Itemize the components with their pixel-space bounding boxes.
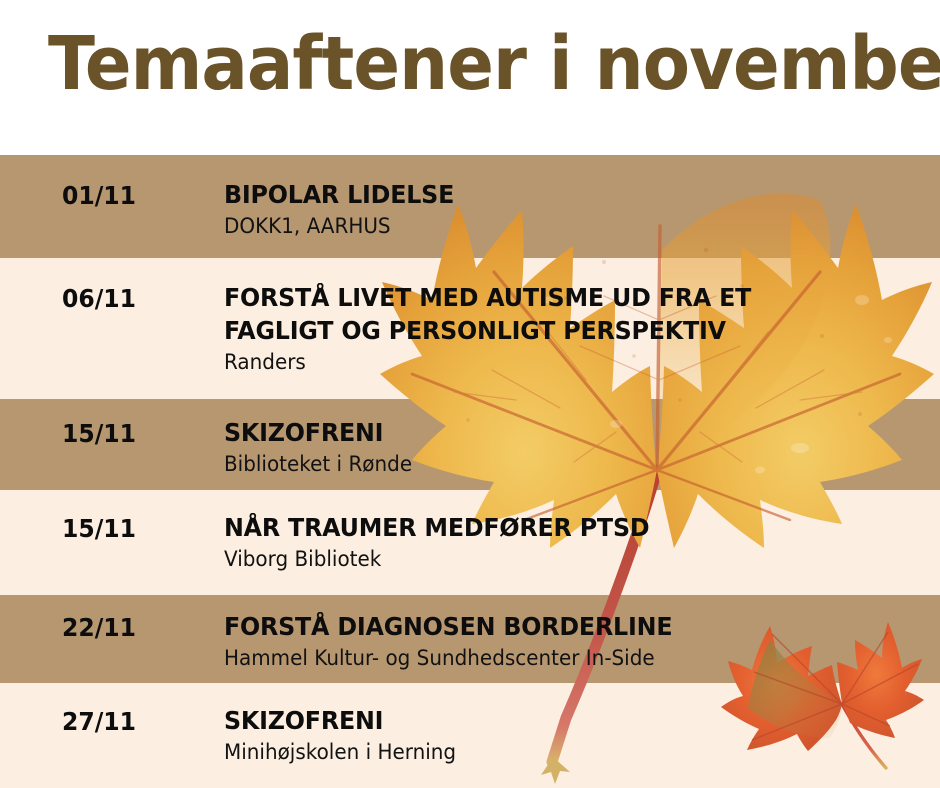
event-venue: Minihøjskolen i Herning — [224, 739, 889, 766]
event-date: 15/11 — [62, 514, 136, 543]
list-item[interactable]: 22/11 FORSTÅ DIAGNOSEN BORDERLINE Hammel… — [0, 595, 940, 683]
event-title-line-2: FAGLIGT OG PERSONLIGT PERSPEKTIV — [224, 314, 889, 347]
event-body: NÅR TRAUMER MEDFØRER PTSD Viborg Bibliot… — [224, 511, 924, 573]
page-title: Temaaftener i november — [48, 24, 940, 104]
list-item[interactable]: 01/11 BIPOLAR LIDELSE DOKK1, AARHUS — [0, 155, 940, 258]
header-area: Temaaftener i november — [0, 0, 940, 155]
event-body: SKIZOFRENI Minihøjskolen i Herning — [224, 704, 924, 766]
event-date: 15/11 — [62, 419, 136, 448]
event-title: NÅR TRAUMER MEDFØRER PTSD — [224, 511, 889, 544]
event-body: SKIZOFRENI Biblioteket i Rønde — [224, 416, 924, 478]
event-title: FORSTÅ DIAGNOSEN BORDERLINE — [224, 610, 889, 643]
list-item[interactable]: 06/11 FORSTÅ LIVET MED AUTISME UD FRA ET… — [0, 258, 940, 399]
list-item[interactable]: 15/11 NÅR TRAUMER MEDFØRER PTSD Viborg B… — [0, 490, 940, 595]
event-date: 27/11 — [62, 707, 136, 736]
event-date: 22/11 — [62, 613, 136, 642]
schedule-list: 01/11 BIPOLAR LIDELSE DOKK1, AARHUS 06/1… — [0, 155, 940, 788]
event-title: BIPOLAR LIDELSE — [224, 178, 889, 211]
event-venue: Randers — [224, 349, 889, 376]
poster-canvas: Temaaftener i november 01/11 BIPOLAR LID… — [0, 0, 940, 788]
event-venue: DOKK1, AARHUS — [224, 213, 889, 240]
event-venue: Biblioteket i Rønde — [224, 451, 889, 478]
event-title: SKIZOFRENI — [224, 704, 889, 737]
event-venue: Viborg Bibliotek — [224, 546, 889, 573]
event-date: 01/11 — [62, 181, 136, 210]
list-item[interactable]: 27/11 SKIZOFRENI Minihøjskolen i Herning — [0, 683, 940, 788]
event-date: 06/11 — [62, 284, 136, 313]
event-venue: Hammel Kultur- og Sundhedscenter In-Side — [224, 645, 889, 672]
event-body: FORSTÅ LIVET MED AUTISME UD FRA ET FAGLI… — [224, 281, 924, 376]
event-body: BIPOLAR LIDELSE DOKK1, AARHUS — [224, 178, 924, 240]
event-title: SKIZOFRENI — [224, 416, 889, 449]
event-body: FORSTÅ DIAGNOSEN BORDERLINE Hammel Kultu… — [224, 610, 924, 672]
event-title-line-1: FORSTÅ LIVET MED AUTISME UD FRA ET — [224, 281, 889, 314]
list-item[interactable]: 15/11 SKIZOFRENI Biblioteket i Rønde — [0, 399, 940, 490]
